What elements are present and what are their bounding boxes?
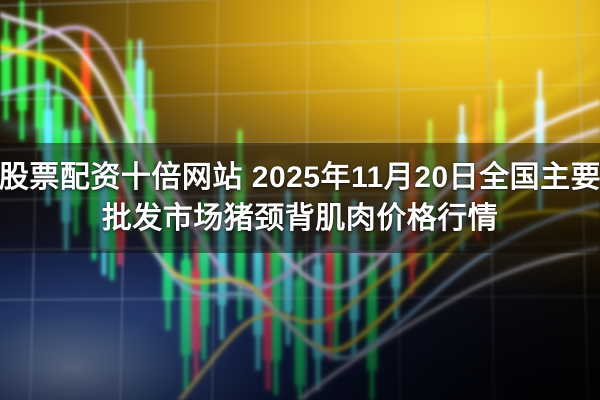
- title-line-2: 批发市场猪颈背肌肉价格行情: [102, 201, 499, 236]
- title-line-1: 股票配资十倍网站 2025年11月20日全国主要: [0, 160, 600, 195]
- title-overlay-band: 股票配资十倍网站 2025年11月20日全国主要 批发市场猪颈背肌肉价格行情: [0, 143, 600, 253]
- banner-image: 股票配资十倍网站 2025年11月20日全国主要 批发市场猪颈背肌肉价格行情: [0, 0, 600, 400]
